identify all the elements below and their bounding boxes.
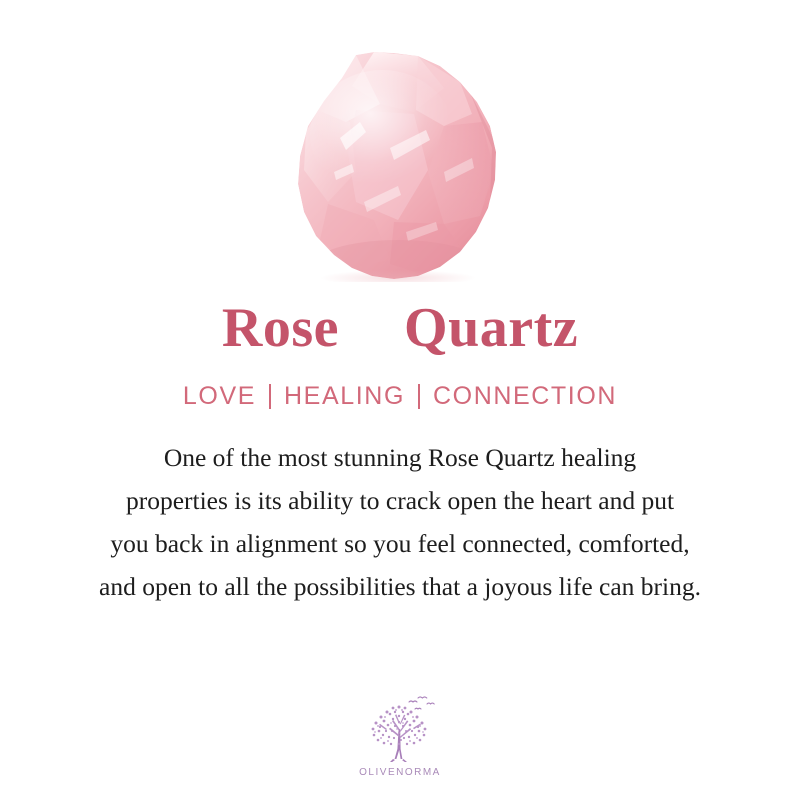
keyword-love: LOVE [183, 384, 256, 409]
product-image-area [0, 0, 800, 300]
stone-shadow [320, 270, 476, 282]
keyword-connection: CONNECTION [433, 384, 617, 409]
rose-quartz-stone-image [294, 52, 502, 282]
product-description: One of the most stunning Rose Quartz hea… [30, 436, 770, 608]
keyword-separator-2 [418, 384, 420, 409]
keyword-tagline: LOVE HEALING CONNECTION [183, 384, 617, 409]
description-line-3: you back in alignment so you feel connec… [30, 522, 770, 565]
description-line-4: and open to all the possibilities that a… [30, 565, 770, 608]
page-title: Rose Quartz [222, 300, 578, 356]
keyword-separator-1 [269, 384, 271, 409]
description-line-1: One of the most stunning Rose Quartz hea… [30, 436, 770, 479]
rose-quartz-product-card: Rose Quartz LOVE HEALING CONNECTION One … [0, 0, 800, 800]
keyword-healing: HEALING [284, 384, 405, 409]
brand-logo: OLIVENORMA [0, 693, 800, 778]
tree-of-life-icon [357, 693, 443, 765]
description-line-2: properties is its ability to crack open … [30, 479, 770, 522]
brand-name: OLIVENORMA [359, 768, 441, 778]
rose-quartz-illustration [294, 52, 502, 282]
